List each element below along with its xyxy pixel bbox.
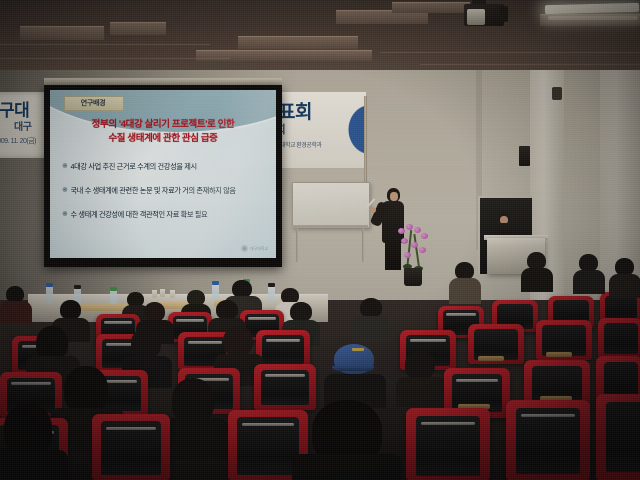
banner-pole — [364, 96, 367, 188]
orchid-bloom — [404, 252, 411, 258]
audience-member — [298, 400, 394, 480]
wall-speaker — [519, 146, 530, 166]
bottle-cap — [110, 287, 117, 291]
ceiling-light-panel — [20, 26, 104, 40]
paper-cup — [170, 290, 175, 298]
auditorium-seat[interactable] — [92, 414, 170, 480]
banner-left-date: 2009. 11. 20(금) — [0, 136, 36, 146]
water-bottle — [268, 286, 275, 301]
slide-title-line2: 수질 생태계에 관한 관심 급증 — [58, 132, 268, 146]
bullet-marker-icon: ※ — [62, 186, 68, 195]
audience-member — [612, 258, 638, 296]
paper-cup — [152, 290, 157, 298]
lecture-hall-photo: 구대 대구 2009. 11. 20(금) 발표회 표회 대구대학교 환경공학과… — [0, 0, 640, 480]
audience-member — [164, 378, 220, 454]
ceiling-light-panel — [196, 50, 372, 61]
university-logo-icon — [241, 245, 248, 252]
slide-footer-logo: 대구대학교 — [241, 245, 268, 252]
slide-bullet-item: ※ 수 생태계 건강성에 대한 객관적인 자료 확보 필요 — [62, 210, 268, 219]
ceiling-speaker — [552, 87, 562, 100]
water-bottle — [46, 286, 53, 303]
orchid-bloom — [414, 227, 421, 233]
slide-bullet-item: ※ 4대강 사업 추진 근거로 수계의 건강성을 제시 — [62, 162, 268, 171]
ceiling-light-panel — [110, 22, 166, 35]
slide-bullet-text: 4대강 사업 추진 근거로 수계의 건강성을 제시 — [71, 162, 197, 171]
fluorescent-light-reflection — [548, 16, 638, 20]
ceiling — [0, 0, 640, 78]
cap-logo — [352, 348, 364, 351]
audience-member — [0, 404, 60, 480]
slide-title: 정부의 '4대강 살리기 프로젝트'로 인한 수질 생태계에 관한 관심 급증 — [58, 118, 268, 146]
cap-brim — [332, 366, 374, 371]
ceiling-light-panel — [392, 2, 470, 13]
slide-bullet-list: ※ 4대강 사업 추진 근거로 수계의 건강성을 제시 ※ 국내 수 생태계에 … — [62, 162, 268, 234]
whiteboard — [292, 182, 370, 228]
auditorium-seat[interactable] — [596, 394, 640, 480]
orchid-pot — [404, 268, 422, 286]
slide-bullet-text: 수 생태계 건강성에 대한 객관적인 자료 확보 필요 — [71, 210, 208, 219]
whiteboard-leg — [296, 228, 298, 262]
whiteboard-leg — [362, 228, 364, 262]
slide-bullet-text: 국내 수 생태계에 관련한 논문 및 자료가 거의 존재하지 않음 — [71, 186, 236, 195]
bottle-cap — [268, 283, 275, 287]
audience-member — [400, 350, 440, 402]
auditorium-seat[interactable] — [406, 408, 490, 480]
projector-body — [500, 6, 508, 22]
bullet-marker-icon: ※ — [62, 162, 68, 171]
orchid-plant — [392, 222, 434, 288]
orchid-bloom — [421, 233, 428, 239]
audience-member-with-cap — [330, 344, 382, 404]
bottle-cap — [74, 285, 81, 289]
audience-member — [356, 298, 386, 340]
orchid-bloom — [401, 238, 408, 244]
seat-armrest — [478, 356, 504, 361]
audience-member — [576, 254, 602, 292]
bottle-cap — [46, 283, 53, 287]
orchid-bloom — [406, 224, 413, 230]
orchid-bloom — [419, 247, 426, 253]
water-bottle — [212, 284, 219, 301]
bottle-cap — [212, 281, 219, 285]
orchid-bloom — [411, 242, 418, 248]
audience-member — [4, 286, 30, 320]
auditorium-seat[interactable] — [506, 400, 590, 480]
paper-cup — [160, 289, 165, 297]
ceiling-light-panel — [238, 36, 358, 49]
slide-bullet-item: ※ 국내 수 생태계에 관련한 논문 및 자료가 거의 존재하지 않음 — [62, 186, 268, 195]
banner-left-line2: 대구 — [14, 118, 31, 133]
whiteboard-tray — [292, 225, 368, 228]
audience-member — [452, 262, 478, 302]
seat-armrest — [546, 352, 572, 357]
banner-swoosh-graphic — [316, 96, 366, 166]
projector — [464, 4, 504, 26]
bullet-marker-icon: ※ — [62, 210, 68, 219]
orchid-bloom — [398, 228, 405, 234]
presenter-face — [390, 192, 398, 201]
projector-lens — [467, 9, 485, 25]
auditorium-seat[interactable] — [256, 330, 310, 368]
fluorescent-light — [545, 3, 639, 14]
slide-header-label: 연구배경 — [64, 97, 122, 109]
projected-slide: 연구배경 정부의 '4대강 살리기 프로젝트'로 인한 수질 생태계에 관한 관… — [50, 90, 276, 258]
slide-footer-logo-text: 대구대학교 — [250, 246, 268, 252]
slide-title-line1: 정부의 '4대강 살리기 프로젝트'로 인한 — [58, 118, 268, 132]
audience-member — [524, 252, 550, 290]
auditorium-seat[interactable] — [598, 318, 640, 358]
